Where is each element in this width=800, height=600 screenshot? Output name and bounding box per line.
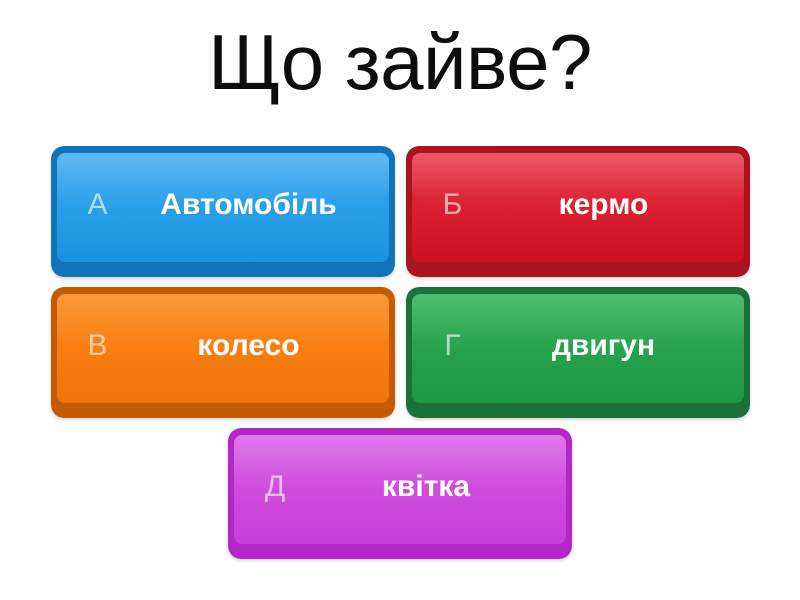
answer-option-g-letter: Г — [424, 331, 482, 361]
answer-option-d-letter: Д — [246, 472, 304, 502]
answer-option-d-content: Д квітка — [228, 428, 572, 559]
answer-option-v[interactable]: В колесо — [51, 287, 395, 418]
answer-option-v-label: колесо — [127, 331, 389, 361]
answer-option-d[interactable]: Д квітка — [228, 428, 572, 559]
answer-option-b-letter: Б — [424, 190, 482, 220]
answer-row: В колесо Г двигун — [0, 287, 800, 418]
answer-option-b[interactable]: Б кермо — [406, 146, 750, 277]
answer-options-grid: А Автомобіль Б кермо В — [0, 146, 800, 569]
answer-option-a-letter: А — [69, 190, 127, 220]
answer-row: А Автомобіль Б кермо — [0, 146, 800, 277]
answer-option-g-content: Г двигун — [406, 287, 750, 418]
answer-option-d-label: квітка — [304, 472, 566, 502]
answer-option-g-label: двигун — [482, 331, 744, 361]
answer-option-b-label: кермо — [482, 190, 744, 220]
answer-option-a-label: Автомобіль — [127, 190, 389, 220]
answer-option-a[interactable]: А Автомобіль — [51, 146, 395, 277]
answer-option-v-content: В колесо — [51, 287, 395, 418]
quiz-page: Що зайве? А Автомобіль Б кермо — [0, 0, 800, 600]
answer-option-b-content: Б кермо — [406, 146, 750, 277]
answer-option-g[interactable]: Г двигун — [406, 287, 750, 418]
page-title: Що зайве? — [0, 8, 800, 116]
answer-row: Д квітка — [0, 428, 800, 559]
answer-option-v-letter: В — [69, 331, 127, 361]
answer-option-a-content: А Автомобіль — [51, 146, 395, 277]
